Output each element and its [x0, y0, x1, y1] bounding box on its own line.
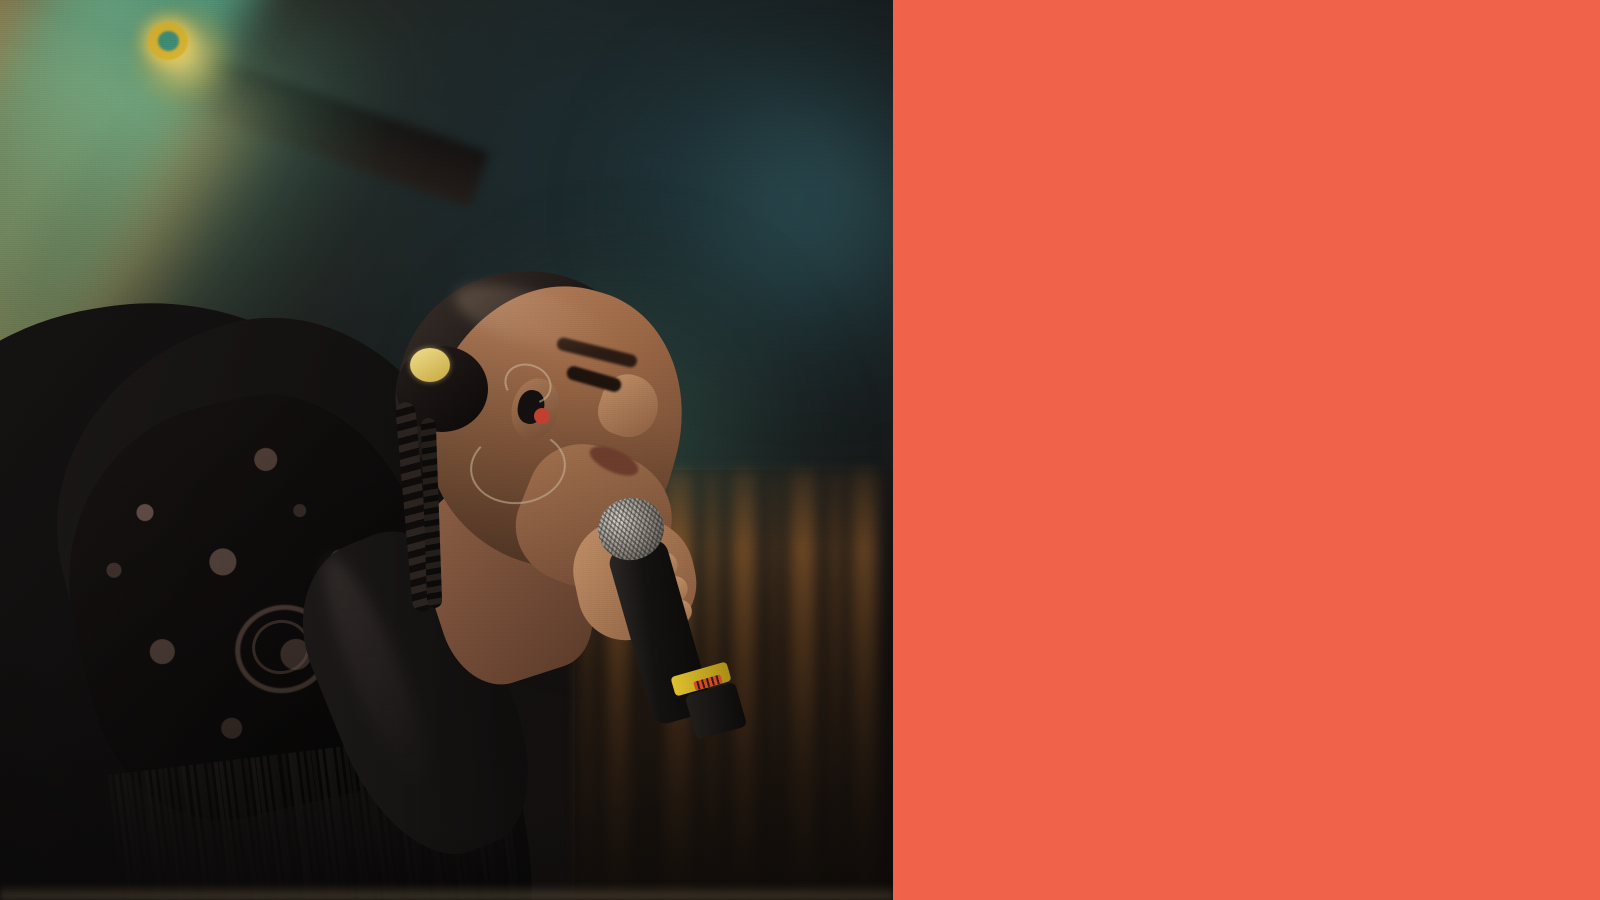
hero-photo [0, 0, 893, 900]
photo-grain [0, 0, 893, 900]
campaign-banner: OPPO Discovery Culture in a Shot Every C… [0, 0, 1600, 900]
copy-panel: OPPO Discovery Culture in a Shot Every C… [893, 0, 1600, 900]
